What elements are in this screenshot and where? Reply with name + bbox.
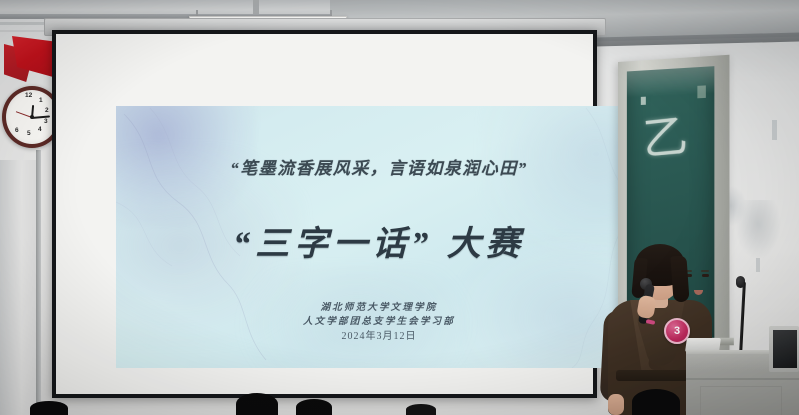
audience-head — [406, 404, 436, 415]
podium-front-panel — [700, 386, 782, 415]
speaker-eye-right — [702, 274, 709, 277]
left-door-frame — [36, 150, 41, 415]
chalk-smear — [697, 85, 705, 98]
clock-numeral-1: 1 — [39, 97, 43, 104]
podium-monitor — [769, 326, 799, 372]
projection-screen-surface: “笔墨流香展风采，言语如泉润心田” “三字一话” 大赛 湖北师范大学文理学院 人… — [56, 34, 593, 394]
clock-numeral-12: 12 — [25, 92, 32, 99]
slide-title: “三字一话” 大赛 — [116, 216, 642, 265]
slide-organization-secondary: 人文学部团总支学生会学习部 — [116, 315, 642, 329]
slide-organization-primary: 湖北师范大学文理学院 — [116, 301, 642, 315]
clock-center-pin — [30, 115, 34, 119]
speaker-hair-strand-right — [670, 255, 689, 302]
left-door-panel — [0, 160, 38, 415]
speaker-eyebrow-right — [701, 270, 709, 272]
clock-numeral-6: 6 — [15, 127, 19, 134]
speaker-hand-lowered — [608, 394, 624, 415]
audience-head — [296, 399, 332, 415]
projector-mount — [253, 0, 259, 14]
projection-screen-frame: “笔墨流香展风采，言语如泉润心田” “三字一话” 大赛 湖北师范大学文理学院 人… — [52, 30, 597, 398]
clock-numeral-5: 5 — [27, 130, 31, 137]
audience-head — [30, 401, 68, 415]
speaker-mouth — [694, 290, 703, 295]
clock-face: 12 1 2 3 4 5 6 — [6, 90, 58, 144]
presentation-slide: “笔墨流香展风采，言语如泉润心田” “三字一话” 大赛 湖北师范大学文理学院 人… — [116, 106, 642, 368]
wall-blemish — [772, 120, 777, 140]
podium-seam — [686, 378, 799, 380]
slide-footer: 湖北师范大学文理学院 人文学部团总支学生会学习部 2024年3月12日 — [116, 301, 642, 344]
clock-numeral-2: 2 — [45, 107, 49, 114]
slide-quote: “笔墨流香展风采，言语如泉润心田” — [116, 154, 642, 179]
slide-date: 2024年3月12日 — [116, 329, 642, 344]
wall-blemish-secondary — [756, 258, 760, 272]
classroom-photo-scene: 12 1 2 3 4 5 6 — [0, 0, 799, 415]
audience-head — [236, 393, 278, 415]
clock-numeral-3: 3 — [44, 118, 48, 125]
podium-monitor-screen — [773, 330, 797, 368]
chalk-speck — [641, 97, 646, 105]
chalkboard-writing: 乙 — [641, 114, 689, 163]
audience-head — [632, 389, 680, 415]
clock-numeral-4: 4 — [38, 126, 42, 133]
